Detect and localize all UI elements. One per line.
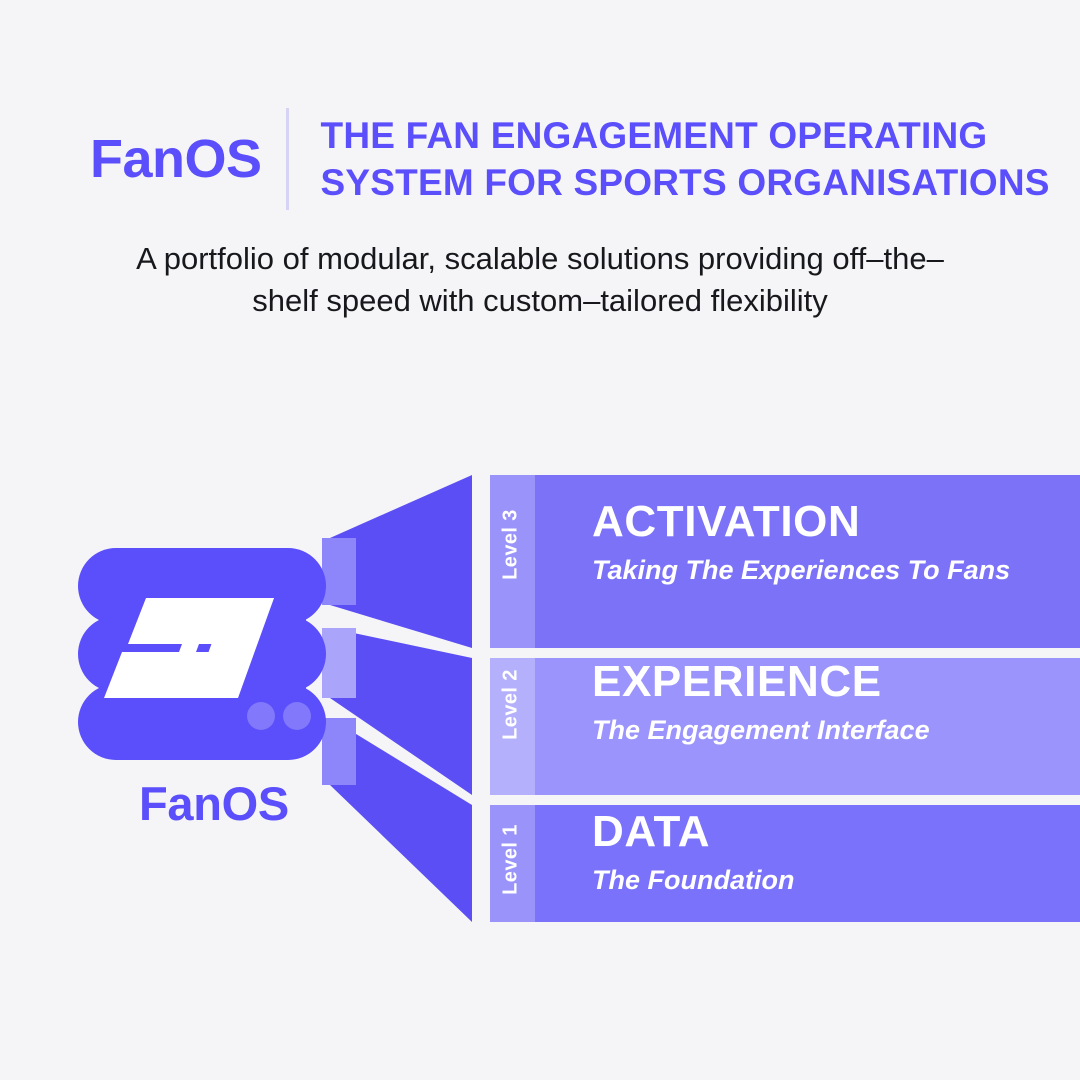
layer-title-experience: EXPERIENCE: [592, 660, 930, 704]
layer-subtitle-activation: Taking The Experiences To Fans: [592, 557, 1010, 584]
layer-text-level-2: EXPERIENCE The Engagement Interface: [592, 660, 930, 744]
layer-subtitle-experience: The Engagement Interface: [592, 717, 930, 744]
header-tagline: THE FAN ENGAGEMENT OPERATING SYSTEM FOR …: [321, 112, 1050, 207]
header: FanOS THE FAN ENGAGEMENT OPERATING SYSTE…: [0, 104, 1080, 214]
page-subtitle: A portfolio of modular, scalable solutio…: [90, 238, 990, 322]
fanos-logo-label: FanOS: [78, 780, 350, 827]
layer-subtitle-data: The Foundation: [592, 867, 794, 894]
layer-title-activation: ACTIVATION: [592, 500, 1010, 544]
logo-dot-left: [247, 702, 275, 730]
layer-title-data: DATA: [592, 810, 794, 854]
level-tab-label-1: Level 1: [500, 815, 523, 905]
fanos-logo-icon: [78, 548, 350, 760]
brand-wordmark: FanOS: [90, 132, 262, 186]
level-tab-label-2: Level 2: [500, 660, 523, 750]
fanos-logo-mark: [78, 548, 350, 760]
logo-dot-right: [283, 702, 311, 730]
layer-text-level-1: DATA The Foundation: [592, 810, 794, 894]
header-divider: [286, 108, 289, 210]
layer-text-level-3: ACTIVATION Taking The Experiences To Fan…: [592, 500, 1010, 584]
level-tab-label-3: Level 3: [500, 500, 523, 590]
